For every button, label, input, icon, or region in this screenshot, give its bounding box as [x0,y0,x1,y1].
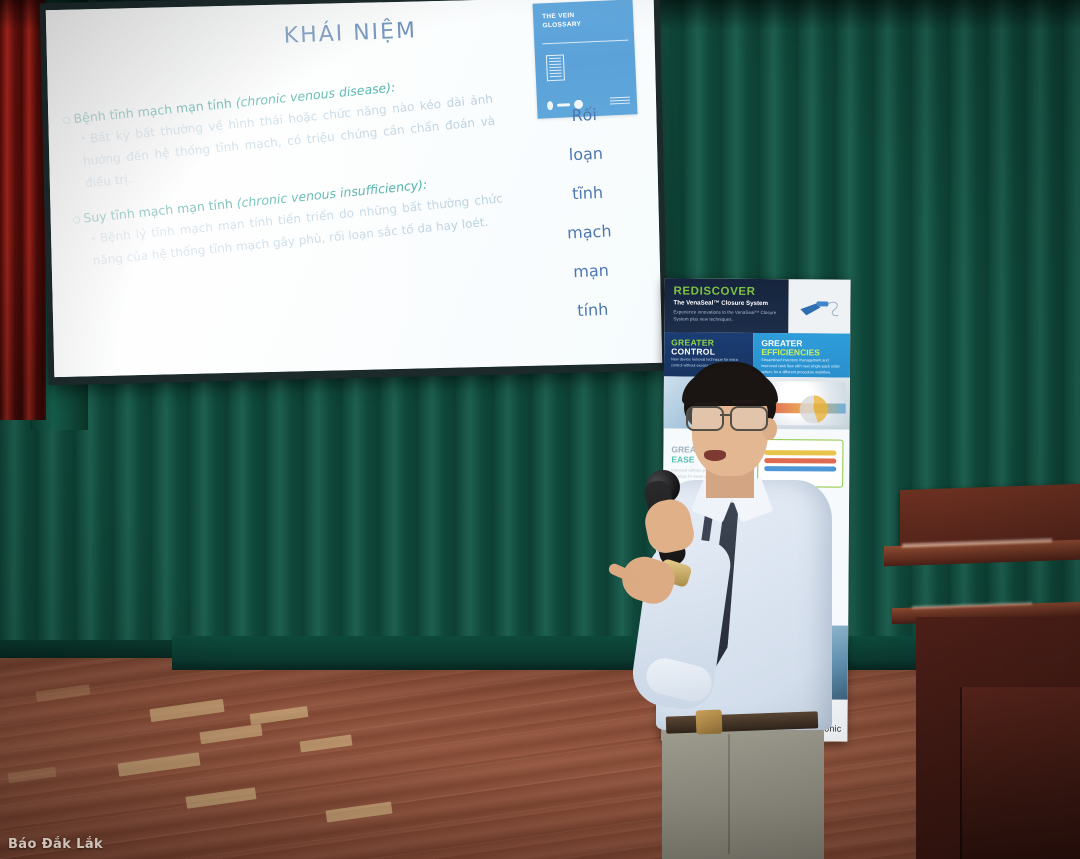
banner-panel-title-bottom: EFFICIENCIES [761,347,820,357]
glossary-divider [542,40,628,45]
bullet-dot-icon: • [90,234,96,244]
projection-screen: KHÁI NIỆM ○Bệnh tĩnh mạch mạn tính (chro… [40,0,669,385]
podium-front-panel [960,687,1080,859]
word-column-item: tính [544,298,641,321]
wooden-podium [882,487,1080,859]
photo-watermark: Báo Đắk Lắk [8,837,103,852]
presenter-fringe [682,366,778,406]
screen-surface: KHÁI NIỆM ○Bệnh tĩnh mạch mạn tính (chro… [46,0,662,377]
bullet-dot-icon: • [80,134,86,144]
banner-headline: REDISCOVER [673,285,755,298]
presenter-eyebrow [732,400,756,403]
photograph-canvas: KHÁI NIỆM ○Bệnh tĩnh mạch mạn tính (chro… [0,0,1080,859]
bullet-dot-icon: ○ [62,115,71,126]
presenter-trousers [662,726,824,859]
eyeglass-bridge [720,414,730,416]
vein-glossary-card: THE VEIN GLOSSARY [533,0,638,119]
word-column-item: mạn [543,259,640,282]
banner-description: Experience innovations to the VenaSeal™ … [673,309,778,324]
eyeglass-lens-left [686,406,724,431]
presenter-mouth [704,450,726,461]
eyeglasses [686,406,774,428]
word-column-item: mạch [541,220,638,243]
eyeglass-lens-right [730,406,768,431]
red-curtain-stage-left [0,0,46,420]
glossary-card-title: THE VEIN GLOSSARY [542,12,581,31]
slide-word-column: Rối loạn tĩnh mạch mạn tính [536,103,642,341]
word-column-item: Rối [536,103,633,126]
presentation-slide: KHÁI NIỆM ○Bệnh tĩnh mạch mạn tính (chro… [46,0,662,377]
stage-front-edge [0,640,180,658]
word-column-item: loạn [537,142,634,165]
vena-seal-device-icon [796,289,842,323]
banner-subhead: The VenaSeal™ Closure System [673,299,768,307]
word-column-item: tĩnh [539,181,636,204]
banner-panel-title-bottom: CONTROL [671,346,715,356]
belt-buckle [696,710,723,735]
bullet-dot-icon: ○ [72,215,81,226]
presenter-eyebrow [694,402,718,405]
slide-bullet-list: ○Bệnh tĩnh mạch mạn tính (chronic venous… [62,70,508,291]
banner-device-photo [788,279,850,333]
presenter-figure [600,362,860,859]
trouser-seam [728,734,730,854]
document-icon [546,54,565,81]
